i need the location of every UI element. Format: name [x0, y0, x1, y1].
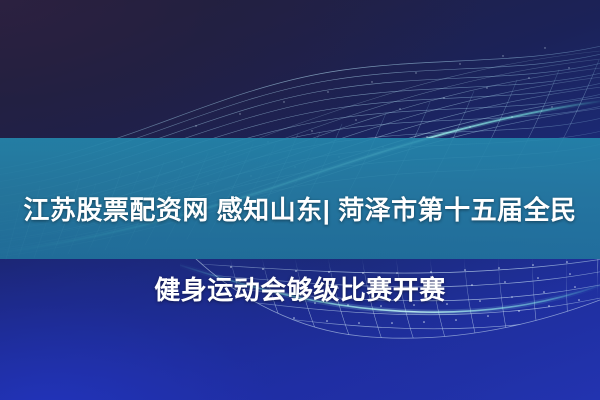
- page-title: 江苏股票配资网 感知山东| 菏泽市第十五届全民 健身运动会够级比赛开赛: [0, 150, 600, 350]
- page-title-line-2: 健身运动会够级比赛开赛: [14, 270, 586, 310]
- banner-image: 江苏股票配资网 感知山东| 菏泽市第十五届全民 健身运动会够级比赛开赛: [0, 0, 600, 400]
- page-title-line-1: 江苏股票配资网 感知山东| 菏泽市第十五届全民: [14, 190, 586, 230]
